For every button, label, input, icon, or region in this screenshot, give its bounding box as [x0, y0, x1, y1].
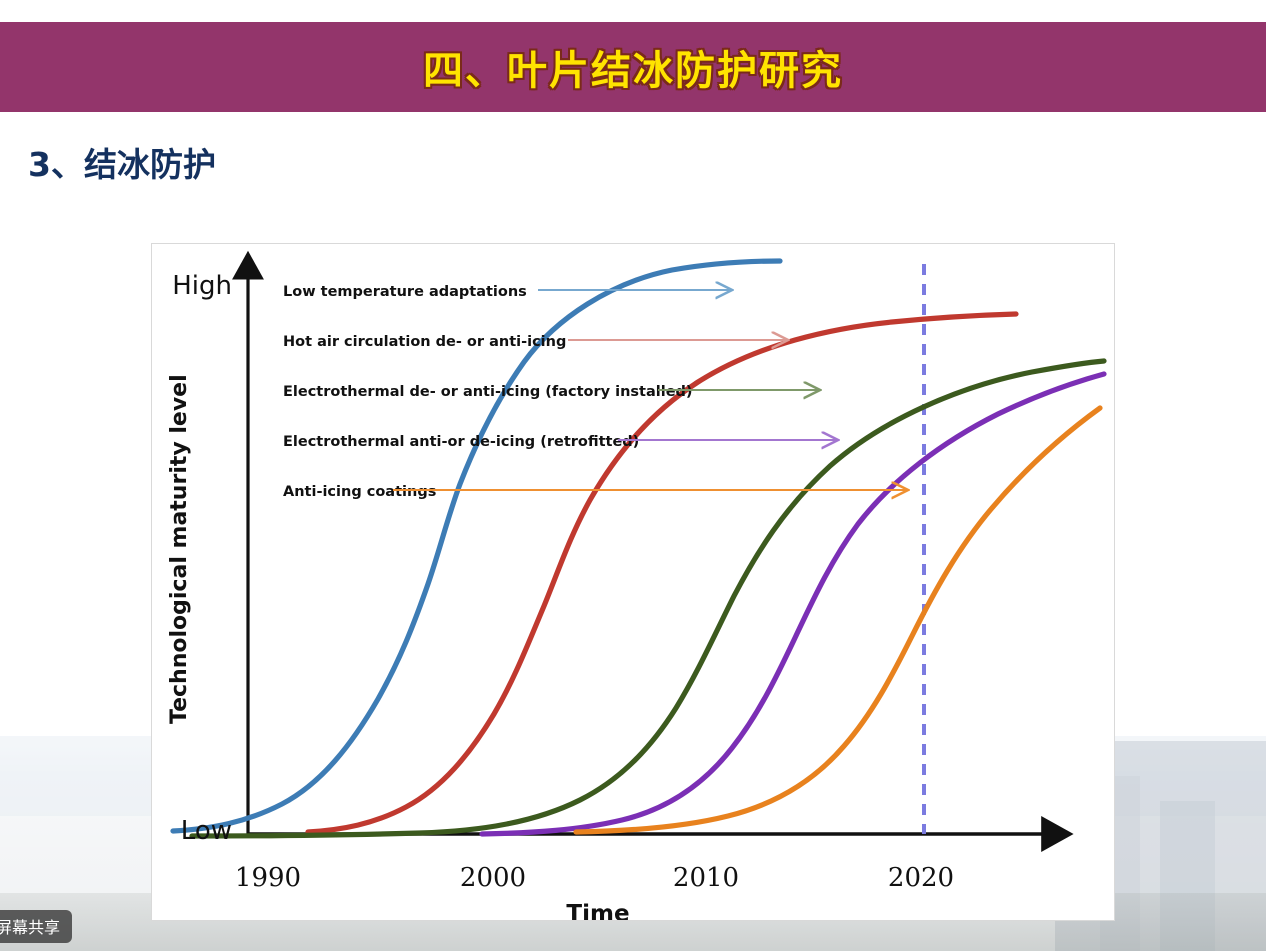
legend-label-1: Hot air circulation de- or anti-icing	[283, 334, 566, 350]
slide-title-banner: 四、叶片结冰防护研究	[0, 22, 1266, 112]
chart-legend: Low temperature adaptations Hot air circ…	[283, 284, 906, 500]
legend-label-3: Electrothermal anti-or de-icing (retrofi…	[283, 434, 639, 450]
chart-svg: Low temperature adaptations Hot air circ…	[152, 244, 1114, 920]
page-title: 四、叶片结冰防护研究	[423, 38, 843, 96]
x-tick-label-2010: 2010	[673, 863, 739, 893]
x-tick-label-1990: 1990	[235, 863, 301, 893]
x-tick-label-2000: 2000	[460, 863, 526, 893]
y-axis-title: Technological maturity level	[167, 374, 192, 724]
slide-canvas: 四、叶片结冰防护研究 3、结冰防护	[0, 0, 1266, 951]
legend-label-0: Low temperature adaptations	[283, 284, 527, 300]
x-axis-title: Time	[566, 901, 629, 920]
legend-item-hot-air-circulation[interactable]: Hot air circulation de- or anti-icing	[283, 334, 786, 350]
technology-maturity-chart: Low temperature adaptations Hot air circ…	[151, 243, 1115, 921]
screen-share-label: 电的屏幕共享	[0, 918, 60, 937]
legend-item-electrothermal-factory-installed[interactable]: Electrothermal de- or anti-icing (factor…	[283, 384, 818, 400]
x-tick-label-2020: 2020	[888, 863, 954, 893]
legend-label-2: Electrothermal de- or anti-icing (factor…	[283, 384, 693, 400]
section-subtitle: 3、结冰防护	[28, 138, 216, 186]
chart-axes	[247, 270, 1052, 836]
legend-item-electrothermal-retrofitted[interactable]: Electrothermal anti-or de-icing (retrofi…	[283, 434, 836, 450]
y-tick-label-low: Low	[181, 816, 232, 846]
screen-share-watermark: 电的屏幕共享	[0, 910, 72, 943]
y-tick-label-high: High	[172, 271, 232, 301]
series-curve-anti-icing-coatings	[576, 408, 1100, 832]
legend-label-4: Anti-icing coatings	[283, 484, 436, 500]
legend-item-low-temperature-adaptations[interactable]: Low temperature adaptations	[283, 284, 730, 300]
